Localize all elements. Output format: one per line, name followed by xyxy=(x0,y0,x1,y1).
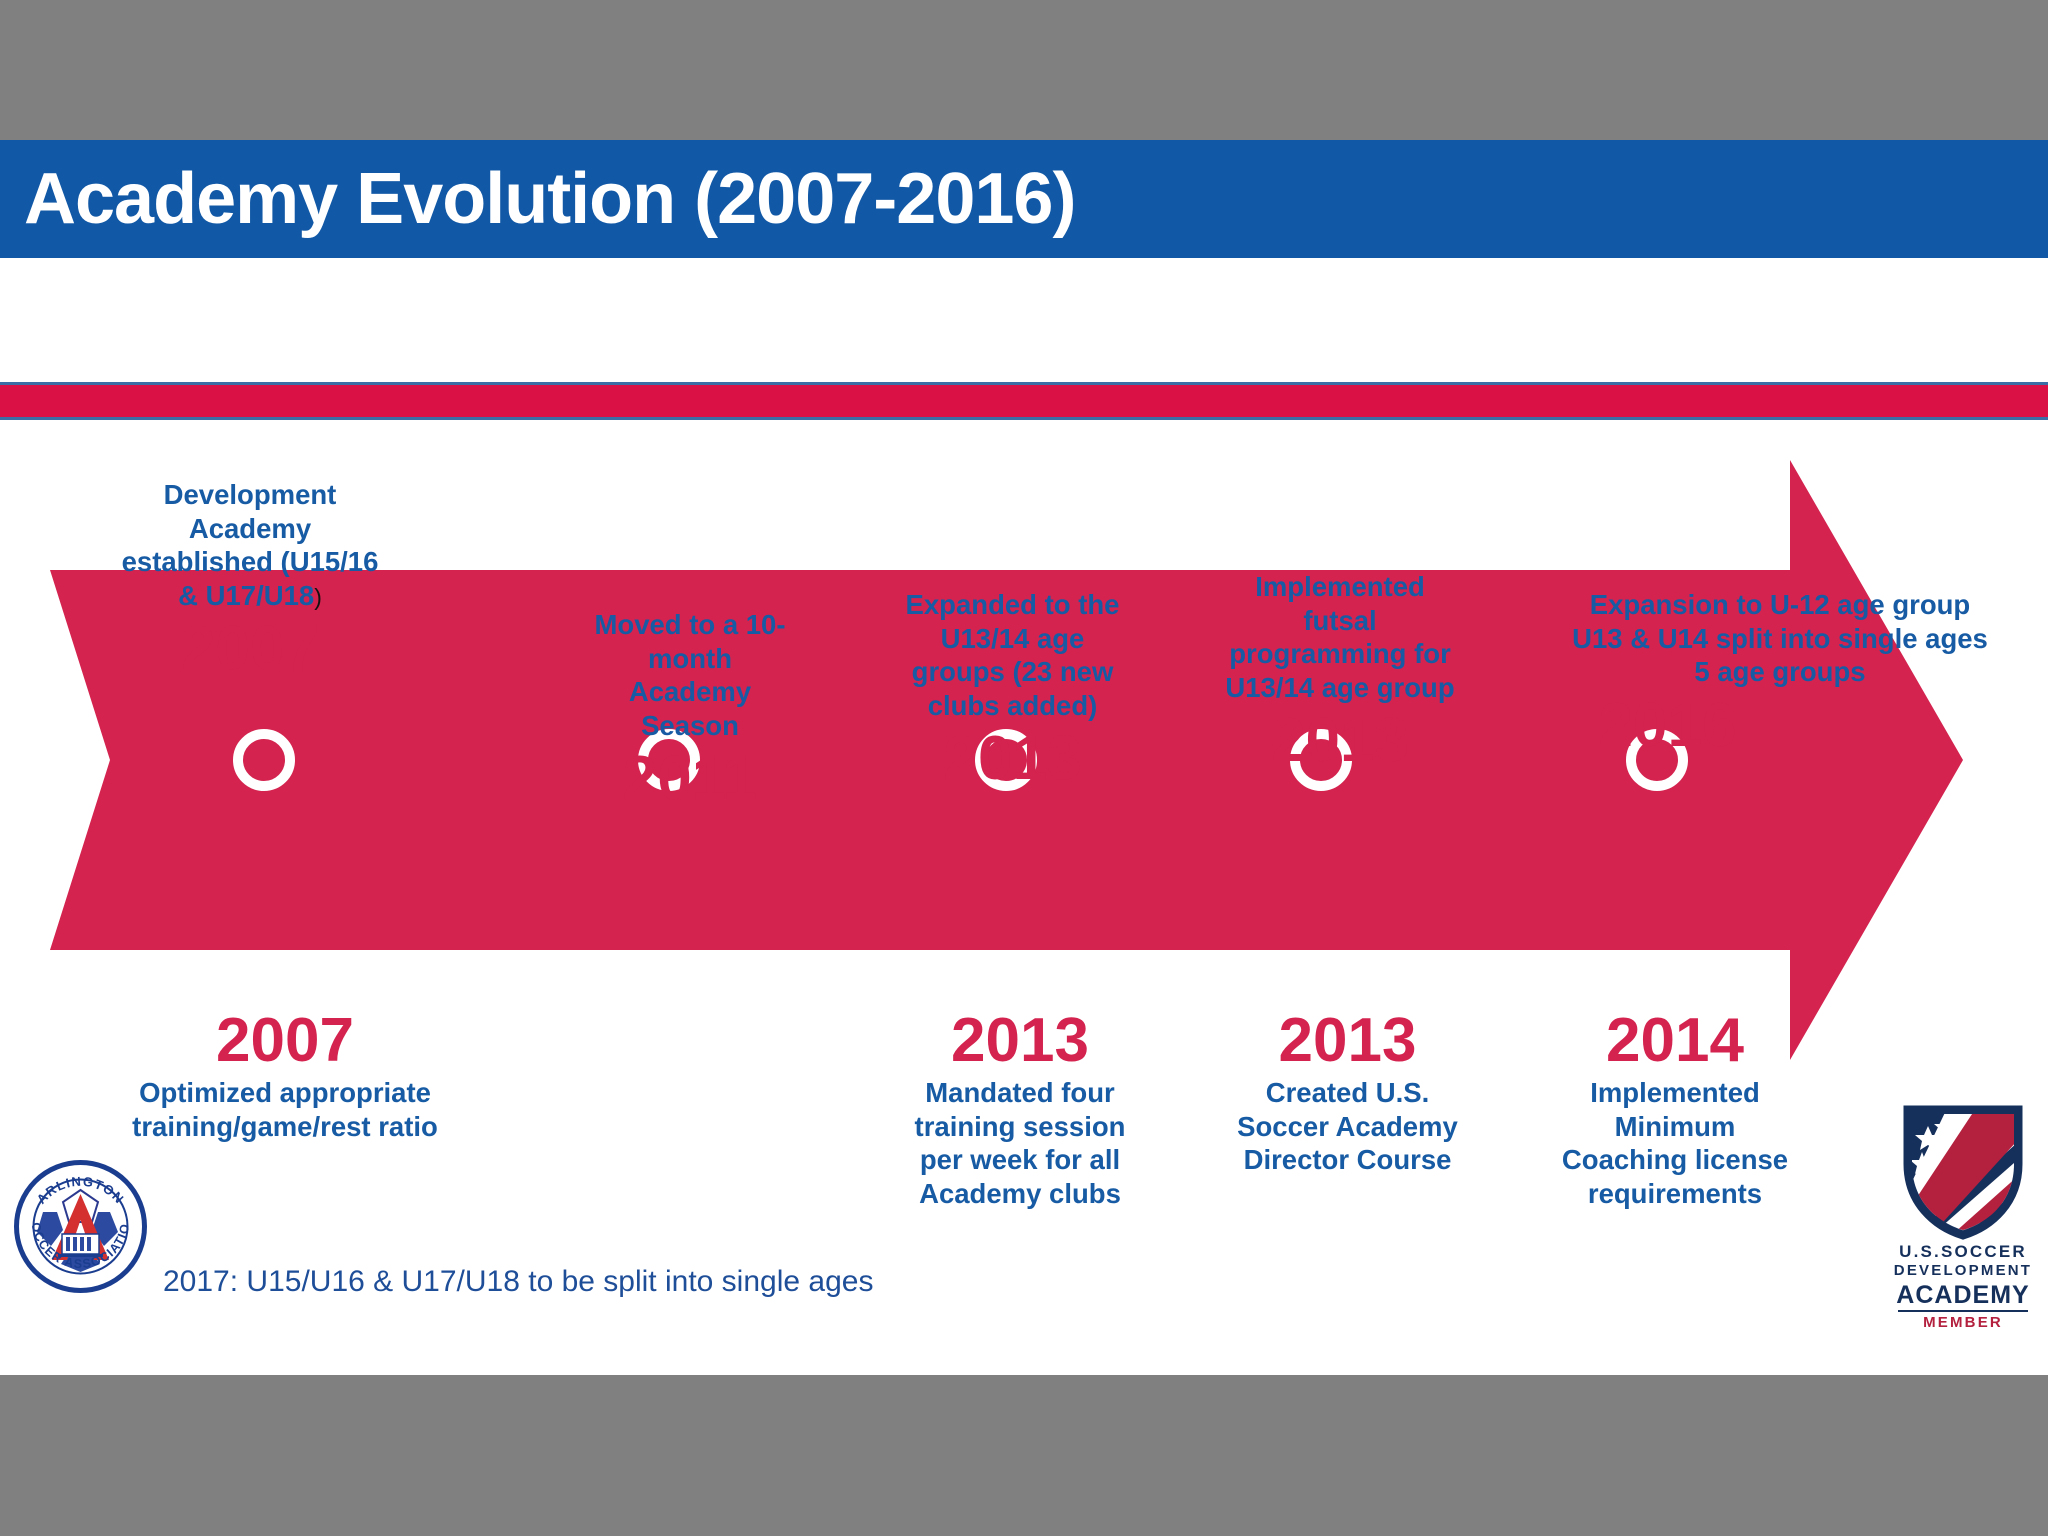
milestone-year-above-5: 2016 xyxy=(1500,695,1835,757)
accent-divider-bar xyxy=(0,382,2048,420)
milestone-line: per week for all xyxy=(855,1143,1185,1177)
milestone-above-2: Moved to a 10- month Academy Season 2011 xyxy=(545,608,835,810)
milestone-line: Expanded to the xyxy=(860,588,1165,622)
milestone-line: Coaching license xyxy=(1510,1143,1840,1177)
milestone-below-1: 2007 Optimized appropriate training/game… xyxy=(60,1010,510,1143)
milestone-above-4: Implemented futsal programming for U13/1… xyxy=(1180,570,1500,772)
usa-logo-line4: MEMBER xyxy=(1888,1314,2038,1331)
usa-logo-line2: DEVELOPMENT xyxy=(1888,1262,2038,1279)
milestone-line: requirements xyxy=(1510,1177,1840,1211)
milestone-above-1: Development Academy established (U15/16 … xyxy=(55,478,445,680)
milestone-line: Created U.S. xyxy=(1185,1076,1510,1110)
milestone-above-5: Expansion to U-12 age group U13 & U14 sp… xyxy=(1500,588,2048,757)
milestone-line: clubs added) xyxy=(860,689,1165,723)
milestone-below-4: 2013 Created U.S. Soccer Academy Directo… xyxy=(1185,1010,1510,1177)
milestone-line: established (U15/16 xyxy=(55,545,445,579)
milestone-line: Academy xyxy=(545,675,835,709)
milestone-line: Soccer Academy xyxy=(1185,1110,1510,1144)
milestone-year-above-4: 2013 xyxy=(1180,710,1500,772)
milestone-line: U13/14 age xyxy=(860,622,1165,656)
milestone-line: Optimized appropriate xyxy=(60,1076,510,1110)
milestone-line: futsal xyxy=(1180,604,1500,638)
milestone-line: Mandated four xyxy=(855,1076,1185,1110)
milestone-line: U13/14 age group xyxy=(1180,671,1500,705)
usa-logo-line3: ACADEMY xyxy=(1888,1281,2038,1310)
milestone-year-below-1: 2007 xyxy=(60,1010,510,1072)
milestone-year-below-3: 2013 xyxy=(855,1010,1185,1072)
milestone-line: Minimum xyxy=(1510,1110,1840,1144)
usa-logo-rule xyxy=(1898,1310,2028,1312)
milestone-line: Director Course xyxy=(1185,1143,1510,1177)
milestone-line: programming for xyxy=(1180,637,1500,671)
milestone-below-5: 2014 Implemented Minimum Coaching licens… xyxy=(1510,1010,1840,1210)
milestone-marker-1[interactable] xyxy=(233,729,295,791)
milestone-line: month xyxy=(545,642,835,676)
milestone-line: Expansion to U-12 age group xyxy=(1500,588,2048,622)
milestone-below-3: 2013 Mandated four training session per … xyxy=(855,1010,1185,1210)
title-bar: Academy Evolution (2007-2016) xyxy=(0,140,2048,258)
us-soccer-shield-icon xyxy=(1888,1102,2038,1240)
milestone-line: Development xyxy=(55,478,445,512)
milestone-year-below-5: 2014 xyxy=(1510,1010,1840,1072)
arlington-soccer-association-logo: ARLINGTON SOCCER ASSOCIATION xyxy=(14,1160,147,1293)
milestone-line-with-paren: & U17/U18) xyxy=(55,579,445,613)
milestone-line: training/game/rest ratio xyxy=(60,1110,510,1144)
milestone-year-below-4: 2013 xyxy=(1185,1010,1510,1072)
milestone-line-text: & U17/U18 xyxy=(178,580,314,611)
milestone-line: 5 age groups xyxy=(1500,655,2048,689)
page-title: Academy Evolution (2007-2016) xyxy=(24,158,1075,240)
milestone-line: Academy clubs xyxy=(855,1177,1185,1211)
milestone-above-3: Expanded to the U13/14 age groups (23 ne… xyxy=(860,588,1165,790)
us-soccer-development-academy-logo: U.S.SOCCER DEVELOPMENT ACADEMY MEMBER xyxy=(1888,1102,2038,1327)
milestone-line: training session xyxy=(855,1110,1185,1144)
milestone-year-above-1: 2007 xyxy=(55,618,445,680)
milestone-line: Moved to a 10- xyxy=(545,608,835,642)
milestone-line: Implemented xyxy=(1510,1076,1840,1110)
milestone-line: Implemented xyxy=(1180,570,1500,604)
milestone-line: Academy xyxy=(55,512,445,546)
slide-canvas: Academy Evolution (2007-2016) Developmen… xyxy=(0,140,2048,1375)
usa-logo-line1: U.S.SOCCER xyxy=(1888,1242,2038,1262)
milestone-line: U13 & U14 split into single ages xyxy=(1500,622,2048,656)
footnote-text: 2017: U15/U16 & U17/U18 to be split into… xyxy=(163,1265,873,1299)
milestone-line: groups (23 new xyxy=(860,655,1165,689)
trailing-paren: ) xyxy=(314,584,322,610)
milestone-year-above-2: 2011 xyxy=(545,748,835,810)
milestone-line: Season xyxy=(545,709,835,743)
milestone-year-above-3: 2013 xyxy=(860,728,1165,790)
